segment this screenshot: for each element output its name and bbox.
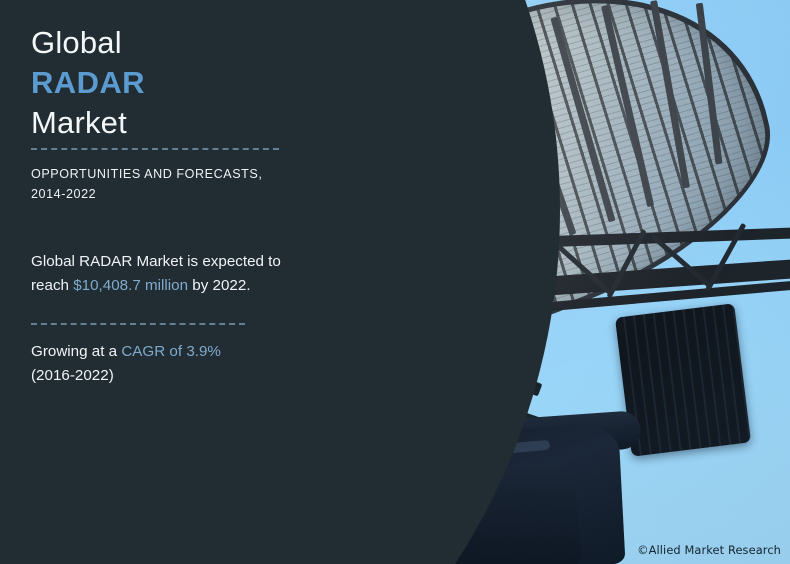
- divider-top: [31, 148, 279, 150]
- title-line-radar: RADAR: [31, 67, 145, 98]
- divider-bottom: [31, 323, 245, 325]
- title-line-market: Market: [31, 107, 145, 138]
- growth-value: CAGR of 3.9%: [121, 343, 221, 360]
- page-title: Global RADAR Market: [31, 27, 145, 147]
- market-report-poster: Global RADAR Market OPPORTUNITIES AND FO…: [0, 0, 790, 564]
- growth-period: (2016-2022): [31, 367, 114, 384]
- title-line-global: Global: [31, 27, 145, 58]
- statement-tail: by 2022.: [188, 277, 251, 294]
- growth-lead: Growing at a: [31, 343, 121, 360]
- statement-value: $10,408.7 million: [73, 277, 188, 294]
- copyright-credit: ©Allied Market Research: [637, 543, 781, 557]
- poster-content: Global RADAR Market OPPORTUNITIES AND FO…: [31, 0, 331, 564]
- growth-statement: Growing at a CAGR of 3.9% (2016-2022): [31, 340, 283, 387]
- market-value-statement: Global RADAR Market is expected to reach…: [31, 250, 283, 297]
- subtitle-text: OPPORTUNITIES AND FORECASTS, 2014-2022: [31, 164, 301, 205]
